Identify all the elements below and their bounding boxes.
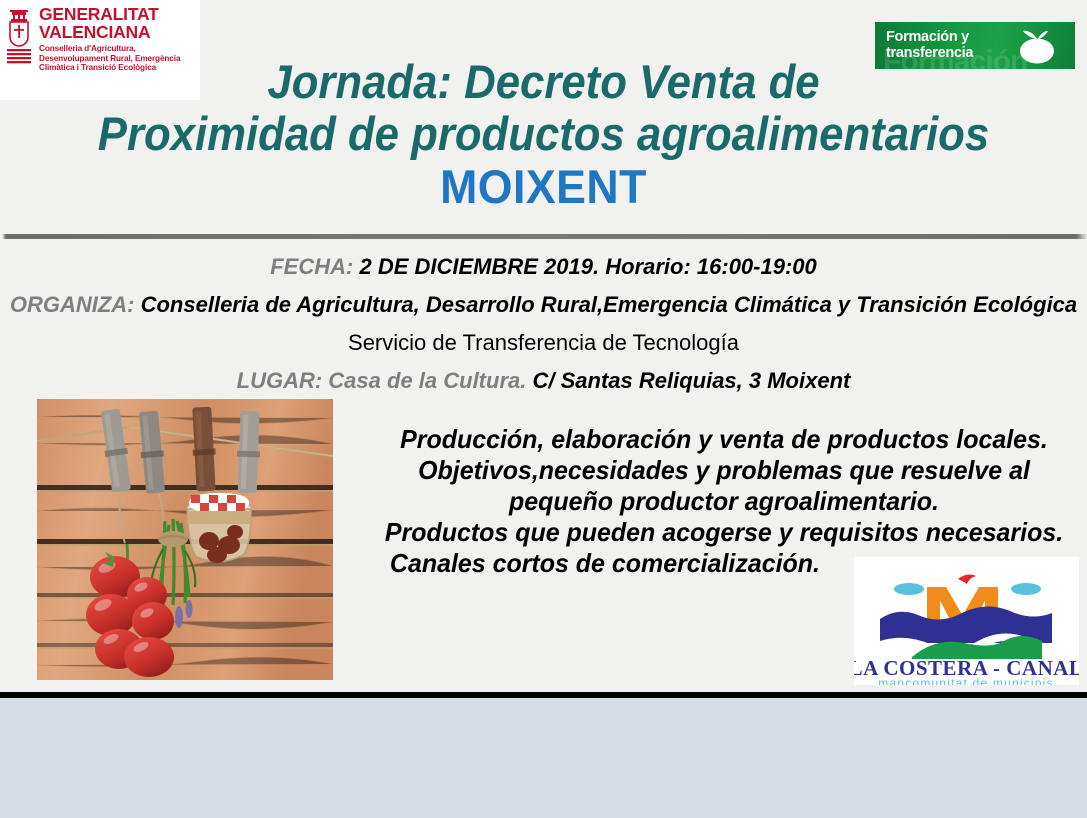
- lugar-label: LUGAR: Casa de la Cultura.: [237, 368, 527, 393]
- footer-panel: INSCRIPCIÓN PREVIA: ACTIVIDAD GRATUITA T…: [0, 698, 1087, 818]
- organiza-value: Conselleria de Agricultura, Desarrollo R…: [141, 292, 1078, 317]
- title-line-1: Jornada: Decreto Venta de: [38, 56, 1049, 108]
- tomatoes-herbs-jar-clothespins-on-wood-photo: [37, 399, 333, 680]
- title-city: MOIXENT: [27, 160, 1060, 214]
- gva-logo-line-1: GENERALITAT: [39, 6, 180, 24]
- lugar-value: C/ Santas Reliquias, 3 Moixent: [532, 368, 850, 393]
- fecha-value: 2 DE DICIEMBRE 2019. Horario: 16:00-19:0…: [359, 254, 816, 279]
- event-details: FECHA: 2 DE DICIEMBRE 2019. Horario: 16:…: [0, 248, 1087, 400]
- gva-logo-line-2: VALENCIANA: [39, 24, 180, 42]
- produce-photo: [37, 399, 333, 680]
- formacion-label-line-1: Formación y: [886, 29, 973, 45]
- program-line-2: Objetivos,necesidades y problemas que re…: [382, 455, 1066, 486]
- detail-servicio: Servicio de Transferencia de Tecnología: [0, 324, 1087, 362]
- gva-logo-sub-1: Conselleria d'Agricultura,: [39, 44, 180, 54]
- event-poster: GENERALITAT VALENCIANA Conselleria d'Agr…: [0, 0, 1087, 818]
- program-line-3: pequeño productor agroalimentario.: [382, 486, 1066, 517]
- detail-organiza: ORGANIZA: Conselleria de Agricultura, De…: [0, 286, 1087, 324]
- title-divider: [0, 234, 1087, 239]
- detail-fecha: FECHA: 2 DE DICIEMBRE 2019. Horario: 16:…: [0, 248, 1087, 286]
- la-costera-canal-logo: LA COSTERA - CANAL mancomunitat de munic…: [854, 557, 1079, 685]
- costera-canal-tagline: mancomunitat de municipis: [878, 676, 1053, 685]
- la-costera-canal-mountains-icon: LA COSTERA - CANAL mancomunitat de munic…: [854, 557, 1079, 685]
- program-line-1: Producción, elaboración y venta de produ…: [382, 424, 1066, 455]
- program-description: Producción, elaboración y venta de produ…: [368, 424, 1080, 579]
- detail-lugar: LUGAR: Casa de la Cultura. C/ Santas Rel…: [0, 362, 1087, 400]
- program-line-4: Productos que pueden acogerse y requisit…: [382, 517, 1066, 548]
- poster-title: Jornada: Decreto Venta de Proximidad de …: [0, 56, 1087, 214]
- fecha-label: FECHA:: [270, 254, 353, 279]
- title-line-2: Proximidad de productos agroalimentarios: [38, 108, 1049, 160]
- organiza-label: ORGANIZA:: [10, 292, 135, 317]
